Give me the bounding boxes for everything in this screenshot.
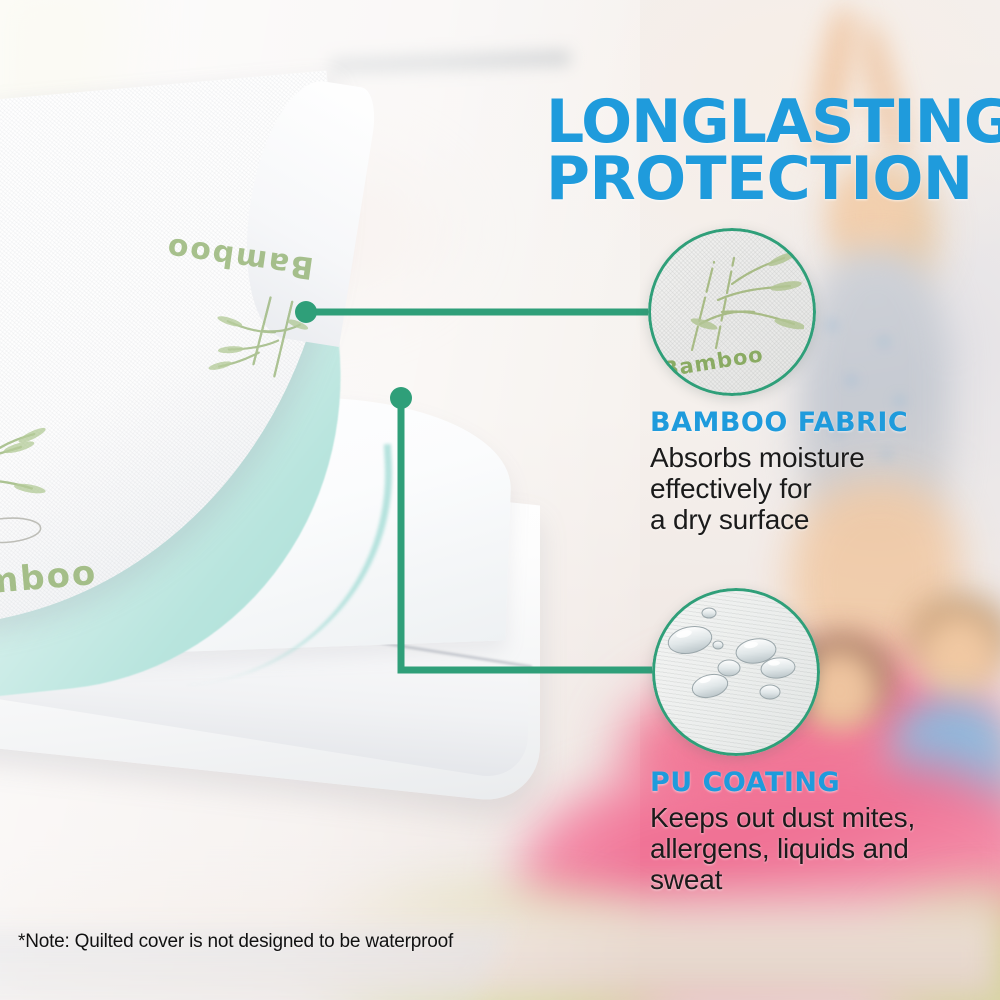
feature-title-bamboo-fabric: BAMBOO FABRIC (650, 408, 980, 438)
feature-body-line: Keeps out dust mites, (650, 802, 980, 833)
headline: LONGLASTING PROTECTION (546, 94, 996, 208)
feature-body-line: allergens, liquids and (650, 833, 980, 864)
infographic-canvas: Bamboo (0, 0, 1000, 1000)
footnote-disclaimer: *Note: Quilted cover is not designed to … (18, 931, 453, 953)
callout-circle-border-pu (652, 588, 820, 756)
callout-circle-pu-coating[interactable] (652, 588, 820, 756)
feature-block-bamboo-fabric: BAMBOO FABRIC Absorbs moisture effective… (650, 408, 980, 536)
feature-title-pu-coating: PU COATING (650, 768, 980, 798)
feature-body-line: sweat (650, 864, 980, 895)
headline-line-1: LONGLASTING (546, 94, 996, 151)
callout-circle-border-bamboo (648, 228, 816, 396)
feature-block-pu-coating: PU COATING Keeps out dust mites, allerge… (650, 768, 980, 896)
callout-circle-bamboo-fabric[interactable]: Bamboo (648, 228, 816, 396)
connector-line-pu (401, 398, 652, 670)
connector-dot-bamboo (295, 301, 317, 323)
connector-dot-pu (390, 387, 412, 409)
feature-body-line: Absorbs moisture (650, 442, 980, 473)
feature-body-bamboo-fabric: Absorbs moisture effectively for a dry s… (650, 442, 980, 536)
feature-body-line: effectively for (650, 473, 980, 504)
feature-body-line: a dry surface (650, 504, 980, 535)
feature-body-pu-coating: Keeps out dust mites, allergens, liquids… (650, 802, 980, 896)
headline-line-2: PROTECTION (546, 151, 996, 208)
